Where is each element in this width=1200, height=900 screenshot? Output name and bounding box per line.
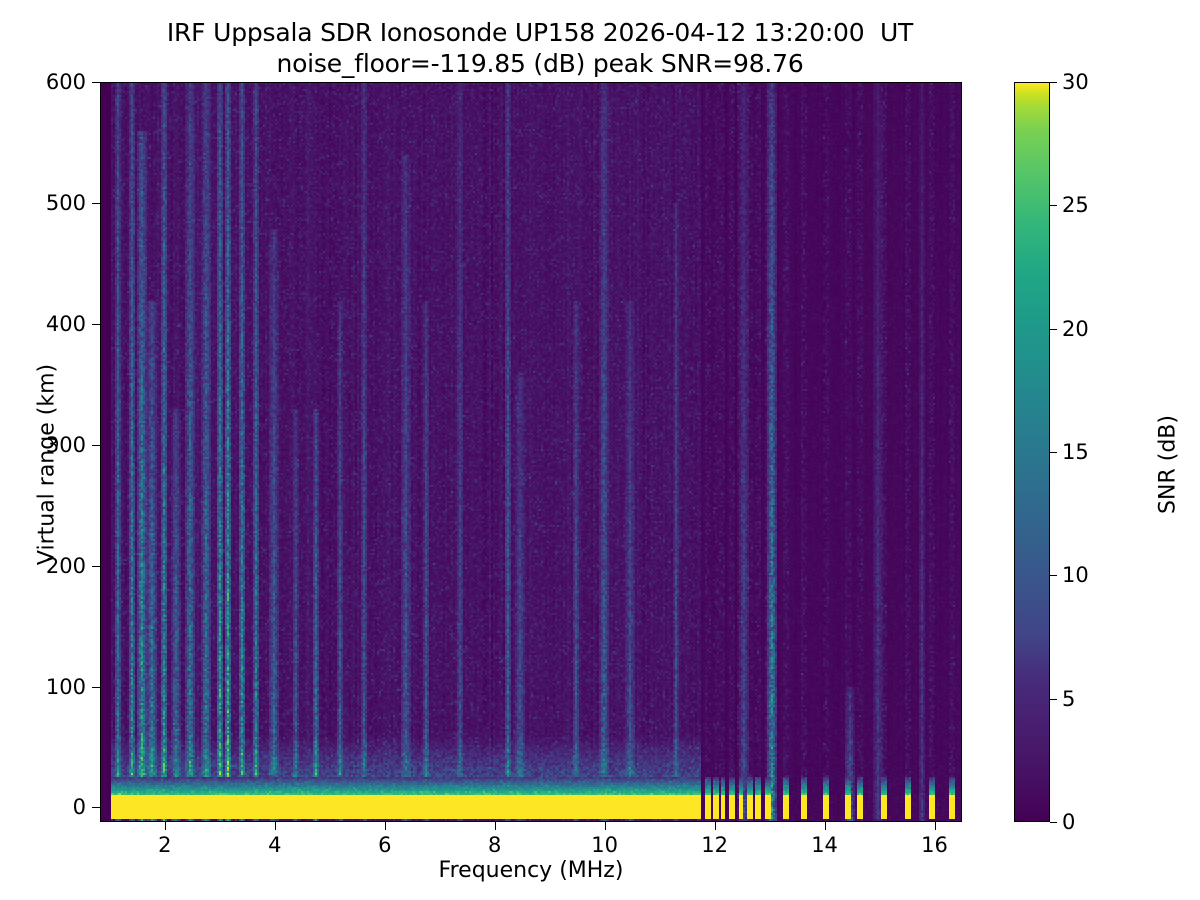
x-tick-mark [825,822,826,830]
y-tick-mark [92,445,100,446]
x-tick-mark [385,822,386,830]
y-tick-label: 500 [46,191,86,215]
x-tick-mark [715,822,716,830]
colorbar-tick-mark [1050,822,1057,823]
y-tick-mark [92,324,100,325]
colorbar-tick-label: 10 [1062,563,1089,587]
colorbar-tick-label: 30 [1062,70,1089,94]
colorbar-tick-label: 5 [1062,687,1075,711]
ionogram-heatmap [101,83,962,822]
x-tick-label: 14 [811,833,838,857]
colorbar-tick-mark [1050,205,1057,206]
ionogram-figure: IRF Uppsala SDR Ionosonde UP158 2026-04-… [0,0,1200,900]
y-axis-label: Virtual range (km) [35,305,60,625]
x-tick-label: 2 [158,833,171,857]
x-tick-mark [605,822,606,830]
x-tick-mark [495,822,496,830]
y-tick-label: 600 [46,70,86,94]
colorbar-tick-label: 0 [1062,810,1075,834]
x-tick-label: 12 [701,833,728,857]
colorbar-tick-mark [1050,329,1057,330]
x-tick-label: 8 [488,833,501,857]
x-tick-mark [935,822,936,830]
y-tick-mark [92,566,100,567]
colorbar-label: SNR (dB) [1156,305,1181,625]
colorbar-tick-mark [1050,699,1057,700]
y-tick-mark [92,687,100,688]
y-tick-label: 100 [46,675,86,699]
colorbar-tick-label: 25 [1062,193,1089,217]
x-tick-label: 16 [921,833,948,857]
x-tick-mark [165,822,166,830]
x-tick-mark [275,822,276,830]
x-axis-label: Frequency (MHz) [100,858,962,883]
colorbar-tick-mark [1050,575,1057,576]
x-tick-label: 4 [268,833,281,857]
colorbar-tick-mark [1050,452,1057,453]
y-tick-mark [92,82,100,83]
title-line-2: noise_floor=-119.85 (dB) peak SNR=98.76 [0,49,1080,80]
y-tick-mark [92,203,100,204]
figure-title: IRF Uppsala SDR Ionosonde UP158 2026-04-… [0,18,1080,79]
y-tick-label: 0 [73,795,86,819]
y-tick-mark [92,807,100,808]
x-tick-label: 6 [378,833,391,857]
colorbar-tick-label: 15 [1062,440,1089,464]
x-tick-label: 10 [591,833,618,857]
ionogram-axes [100,82,962,822]
snr-colorbar [1014,82,1050,822]
colorbar-tick-label: 20 [1062,317,1089,341]
title-line-1: IRF Uppsala SDR Ionosonde UP158 2026-04-… [0,18,1080,49]
colorbar-tick-mark [1050,82,1057,83]
